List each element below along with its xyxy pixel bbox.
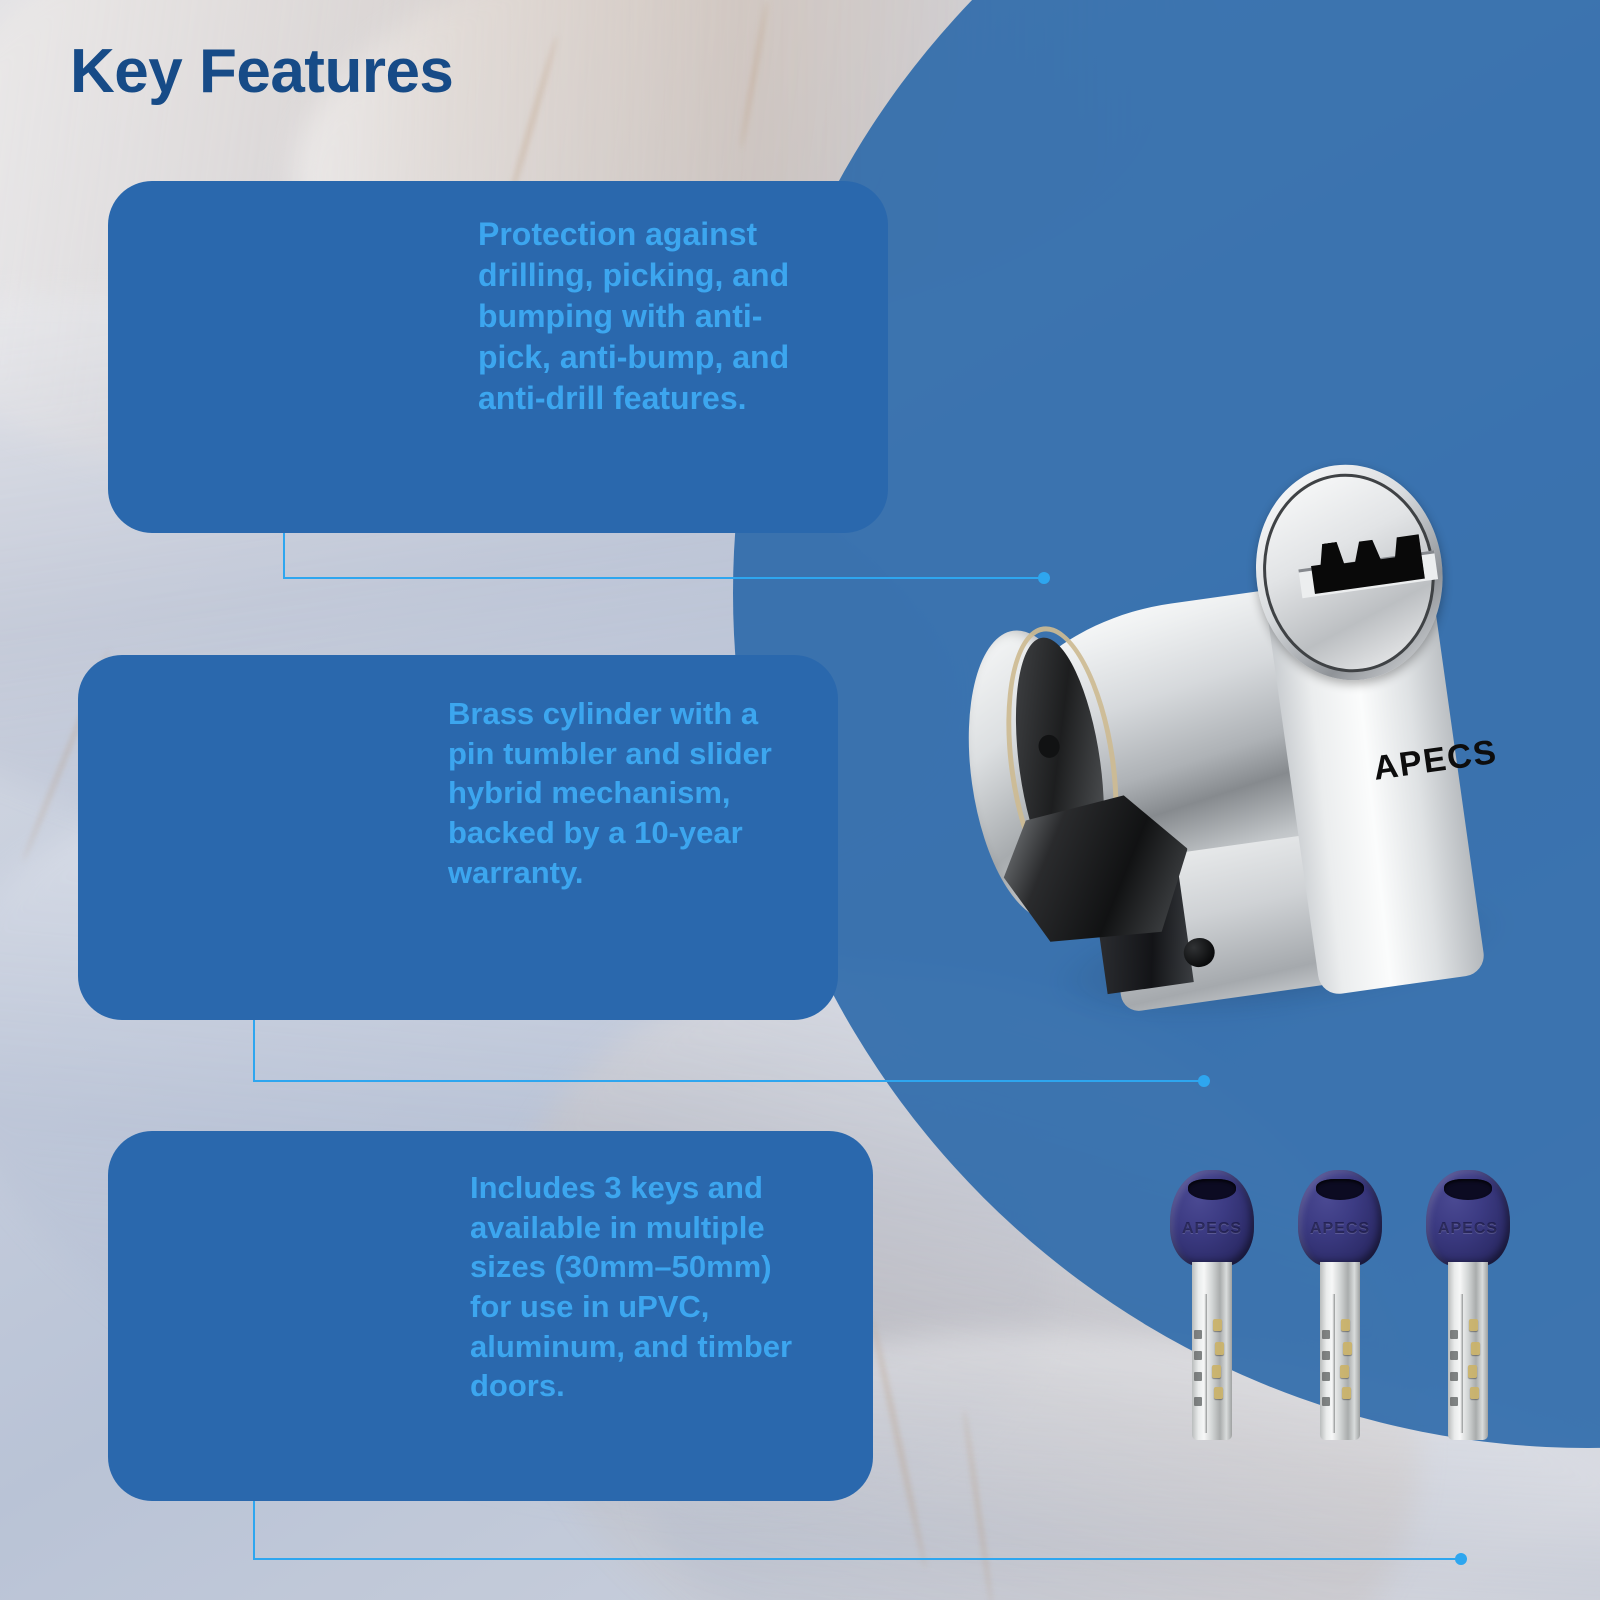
key-notch [1322,1351,1329,1360]
key-brand-emboss: APECS [1182,1220,1242,1238]
connector-line-3-horizontal [253,1558,1460,1560]
key-brand-emboss: APECS [1310,1220,1370,1238]
key-notch [1450,1372,1457,1381]
key-blade [1320,1262,1360,1440]
key-notch [1450,1351,1457,1360]
hero-key-item: APECS [1426,1170,1510,1440]
feature-text-brass-cylinder: Brass cylinder with a pin tumbler and sl… [448,694,788,892]
key-dimple [1213,1319,1222,1331]
connector-line-1-horizontal [283,577,1043,579]
key-ring-hole [1188,1179,1235,1200]
connector-line-2-horizontal [253,1080,1203,1082]
key-dimple [1340,1365,1349,1377]
feature-text-anti-tamper: Protection against drilling, picking, an… [478,214,828,419]
key-dimple [1214,1387,1223,1399]
page-title: Key Features [70,36,453,107]
key-notch [1322,1372,1329,1381]
key-groove [1332,1294,1335,1433]
key-dimple [1212,1365,1221,1377]
hero-lock-cylinder-image: APECS [940,429,1600,1050]
feature-text-keys-and-sizes: Includes 3 keys and available in multipl… [470,1168,820,1406]
key-dimple [1215,1342,1224,1354]
key-notch [1322,1330,1329,1339]
hero-key-item: APECS [1298,1170,1382,1440]
key-ring-hole [1316,1179,1363,1200]
key-bow: APECS [1426,1170,1510,1266]
hero-key-group: APECS APECS [1130,1140,1550,1470]
key-bow: APECS [1170,1170,1254,1266]
key-dimple [1469,1319,1478,1331]
hero-keys-image: APECS APECS [1130,1140,1550,1470]
key-dimple [1342,1387,1351,1399]
key-dimple [1341,1319,1350,1331]
key-notch [1194,1330,1201,1339]
key-groove [1460,1294,1463,1433]
key-brand-emboss: APECS [1438,1220,1498,1238]
key-blade [1192,1262,1232,1440]
key-notch [1450,1397,1457,1406]
key-notch [1450,1330,1457,1339]
connector-endpoint-dot-3 [1455,1553,1467,1565]
key-groove [1204,1294,1207,1433]
key-blade [1448,1262,1488,1440]
key-notch [1194,1351,1201,1360]
key-ring-hole [1444,1179,1491,1200]
key-dimple [1468,1365,1477,1377]
connector-endpoint-dot-1 [1038,572,1050,584]
key-dimple [1343,1342,1352,1354]
hero-key-item: APECS [1170,1170,1254,1440]
key-notch [1194,1397,1201,1406]
key-notch [1194,1372,1201,1381]
key-dimple [1471,1342,1480,1354]
key-dimple [1470,1387,1479,1399]
connector-endpoint-dot-2 [1198,1075,1210,1087]
key-notch [1322,1397,1329,1406]
key-bow: APECS [1298,1170,1382,1266]
